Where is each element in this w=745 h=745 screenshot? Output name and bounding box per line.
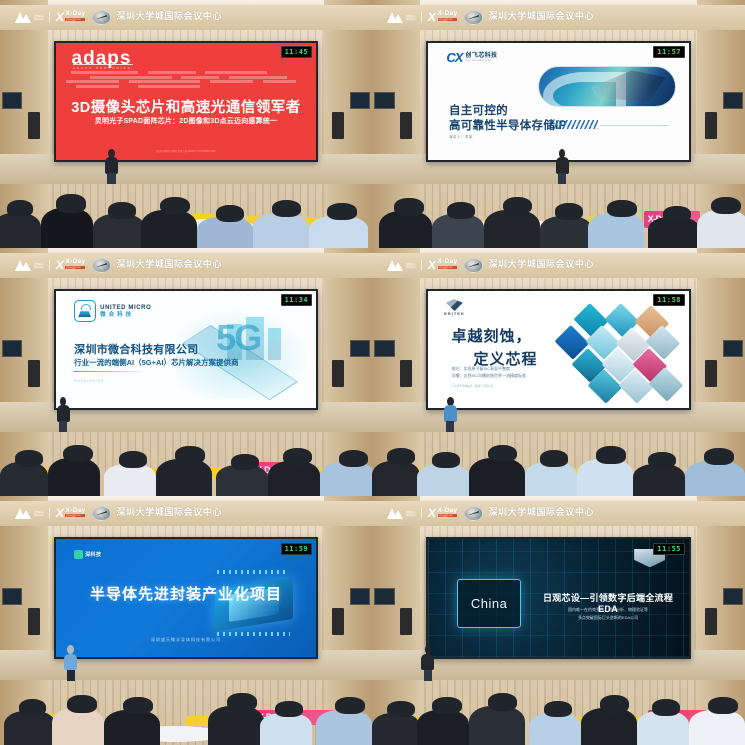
wall-monitor-left	[374, 340, 395, 357]
slide-eda: China 日观芯设—引领数字后端全流程EDA 国内唯一在约束签核、时序分析、物…	[428, 539, 689, 657]
united-micro-badge-icon	[74, 300, 96, 322]
event-banner: 深圳南山Nanshan X X-Day Roadshow 2025 深圳 深圳大…	[0, 501, 372, 526]
wall-monitor-right	[350, 92, 371, 109]
united-micro-logo: UNITED MICRO 微合科技	[74, 300, 151, 322]
photo-panel-2[interactable]: 深圳南山Nanshan X X-Day Roadshow 2025 深圳 深圳大…	[372, 0, 745, 248]
wall-monitor-left	[374, 588, 395, 605]
mountain-logo-icon	[387, 507, 403, 519]
chip-graphic-china: China	[457, 579, 522, 628]
clock-display-1: 11:45	[281, 46, 313, 58]
x-mark-icon: X	[427, 259, 436, 271]
um-name-cn: 微合科技	[100, 312, 151, 318]
clock-display-4: 11:58	[653, 294, 685, 306]
presentation-screen-3: UNITED MICRO 微合科技 5G 深圳市微合科技有限公司 行业一流的端侧…	[54, 289, 318, 411]
speaker-right	[332, 608, 344, 635]
conference-center-seal-icon	[464, 506, 483, 521]
x-mark-icon: X	[55, 11, 64, 23]
speaker-right	[705, 112, 717, 139]
center-name-en: INTERNATIONAL CONFERENCE CENTER OF UNIVE…	[488, 21, 594, 23]
gritek-wordmark: GRITEK	[444, 311, 465, 316]
photo-panel-5[interactable]: 深圳南山Nanshan X X-Day Roadshow 2025 深圳 深圳大…	[0, 496, 372, 745]
audience-area-3: X-Day	[0, 419, 372, 496]
subtitle-line-1: 抛光：实现原子级SiC表面平整度	[452, 366, 526, 373]
banner-divider	[421, 12, 422, 23]
speaker-left	[28, 112, 40, 139]
audience-area-2: X-Day	[372, 171, 745, 248]
center-name-cn: 深圳大学城国际会议中心	[116, 12, 222, 21]
conference-center-seal-icon	[464, 258, 483, 273]
clock-display-6: 11:55	[653, 543, 685, 555]
slide-united-micro: UNITED MICRO 微合科技 5G 深圳市微合科技有限公司 行业一流的端侧…	[56, 291, 316, 409]
x-mark-icon: X	[427, 11, 436, 23]
speaker-right	[332, 360, 344, 387]
audience-area-1	[0, 171, 372, 248]
banner-divider	[421, 508, 422, 519]
mountain-logo-label: 深圳南山Nanshan	[34, 511, 44, 517]
mountain-logo-icon	[387, 11, 403, 23]
center-name-en: INTERNATIONAL CONFERENCE CENTER OF UNIVE…	[488, 269, 594, 271]
wall-monitor-left	[2, 92, 23, 109]
presentation-screen-1: adaps ADAPS PHOTONICS 3D摄像头芯片和高速光通信领军者 灵…	[54, 41, 318, 163]
wall-monitor-right	[723, 340, 744, 357]
line-decor	[600, 125, 668, 126]
center-name-en: INTERNATIONAL CONFERENCE CENTER OF UNIVE…	[116, 269, 222, 271]
xday-logo: X X-Day Roadshow 2025 深圳	[56, 259, 85, 271]
center-name-cn: 深圳大学城国际会议中心	[116, 260, 222, 269]
event-banner: 深圳南山Nanshan X X-Day Roadshow 2025 深圳 深圳大…	[372, 5, 745, 30]
mountain-logo-label: 深圳南山Nanshan	[406, 511, 416, 517]
conference-center-seal-icon	[92, 10, 111, 25]
event-banner: 深圳南山Nanshan X X-Day Roadshow 2025 深圳 深圳大…	[372, 501, 745, 526]
mountain-logo-label: 深圳南山Nanshan	[34, 263, 44, 269]
wall-monitor-right	[350, 588, 371, 605]
adaps-rule	[73, 64, 133, 65]
wall-monitor-left	[2, 588, 23, 605]
slide-title-3: 深圳市微合科技有限公司	[74, 341, 198, 357]
slide-photo-mosaic	[548, 305, 686, 399]
mountain-logo-label: 深圳南山 Nanshan	[34, 15, 44, 21]
wall-monitor-right	[723, 588, 744, 605]
slide-title-5: 半导体先进封装产业化项目	[56, 583, 316, 604]
photo-gallery-grid: 深圳南山 Nanshan X X-Day Roadshow 2025 深圳 深圳…	[0, 0, 745, 745]
slide-hero-image	[538, 66, 676, 107]
art-label-5g: 5G	[216, 320, 260, 356]
speaker-left	[28, 360, 40, 387]
speaker-right	[332, 112, 344, 139]
presentation-screen-4: GRITEK 卓越刻蚀	[426, 289, 691, 411]
slide-cfx: CX 创飞芯科技 CFX TECHNOLOGY 自主可控的 高可靠性半导体存储I…	[428, 43, 689, 161]
slide-subtitle-3: 行业一流的端侧AI（5G+AI）芯片解决方案提供商	[74, 357, 238, 368]
slide-title-1: 3D摄像头芯片和高速光通信领军者	[56, 96, 316, 117]
mountain-logo-icon	[387, 259, 403, 271]
gritek-mark-icon	[446, 299, 463, 311]
cfx-name-cn: 创飞芯科技	[465, 53, 497, 59]
slide-title-4: 卓越刻蚀， 定义芯程	[452, 326, 538, 371]
cfx-logo: CX 创飞芯科技 CFX TECHNOLOGY	[446, 51, 497, 64]
shenzhen-tech-logo: 深科技	[74, 550, 101, 559]
wall-monitor-left	[374, 92, 395, 109]
conference-center-seal-icon	[92, 258, 111, 273]
xday-year: 2025 深圳	[65, 21, 85, 23]
wall-monitor-right	[723, 92, 744, 109]
audience-area-5: X-Day	[0, 668, 372, 745]
photo-panel-1[interactable]: 深圳南山 Nanshan X X-Day Roadshow 2025 深圳 深圳…	[0, 0, 372, 248]
conference-center-seal-icon	[92, 506, 111, 521]
banner-divider	[49, 260, 50, 271]
speaker-left	[400, 360, 412, 387]
wall-monitor-right	[350, 340, 371, 357]
um-name-en: UNITED MICRO	[100, 305, 151, 312]
event-banner: 深圳南山Nanshan X X-Day Roadshow 2025 深圳 深圳大…	[0, 253, 372, 278]
photo-panel-4[interactable]: 深圳南山Nanshan X X-Day Roadshow 2025 深圳 深圳大…	[372, 248, 745, 496]
gritek-logo: GRITEK	[444, 299, 465, 316]
center-name-en: INTERNATIONAL CONFERENCE CENTER OF UNIVE…	[116, 21, 222, 23]
slide-rule	[74, 371, 147, 373]
mountain-logo-icon	[15, 11, 31, 23]
mountain-logo-icon	[15, 259, 31, 271]
center-name-cn: 深圳大学城国际会议中心	[488, 260, 594, 269]
xday-logo: X X-Day Roadshow 2025 深圳	[428, 259, 457, 271]
slide-gritek: GRITEK 卓越刻蚀	[428, 291, 689, 409]
xday-logo: X X-Day Roadshow 2025 深圳	[428, 507, 457, 519]
slide-subtitle-4: 抛光：实现原子级SiC表面平整度 沟槽：达到SiC沟槽刻蚀世界一流精度标准	[452, 366, 526, 380]
mountain-logo-icon	[15, 507, 31, 519]
brand-name-5: 深科技	[85, 551, 101, 558]
banner-divider	[49, 508, 50, 519]
title-line-1: 自主可控的	[449, 105, 508, 117]
speaker-right	[705, 360, 717, 387]
slide-subtitle-1: 灵明光子SPAD面阵芯片：2D图像和3D点云迈向感算统一	[56, 116, 316, 126]
subtitle-line-1: 国内唯一在约束签核、时序分析、物理验证等	[535, 606, 681, 613]
audience-area-6: X-Day	[372, 668, 745, 745]
presenter-label-2: 演讲人：李某	[449, 135, 473, 140]
presentation-screen-2: CX 创飞芯科技 CFX TECHNOLOGY 自主可控的 高可靠性半导体存储I…	[426, 41, 691, 163]
photo-panel-6[interactable]: 深圳南山Nanshan X X-Day Roadshow 2025 深圳 深圳大…	[372, 496, 745, 745]
x-mark-icon: X	[427, 507, 436, 519]
cfx-name-en: CFX TECHNOLOGY	[465, 60, 497, 62]
clock-display-3: 11:34	[281, 294, 313, 306]
center-name-cn: 深圳大学城国际会议中心	[488, 508, 594, 517]
speaker-left	[28, 608, 40, 635]
slide-footnote-1: 深圳市灵明光子科技有限公司 ADAPS PHOTONICS INC.	[56, 150, 316, 154]
audience-area-4	[372, 419, 745, 496]
slide-date-3: 2025/08/04	[74, 378, 104, 383]
hero-ring-decor	[543, 72, 625, 107]
xday-logo: X X-Day Roadshow 2025 深圳	[428, 11, 457, 23]
x-mark-icon: X	[55, 507, 64, 519]
speaker-left	[400, 608, 412, 635]
photo-panel-3[interactable]: 深圳南山Nanshan X X-Day Roadshow 2025 深圳 深圳大…	[0, 248, 372, 496]
chip-label: China	[471, 596, 507, 611]
xday-year: 2025 深圳	[438, 21, 458, 23]
banner-divider	[421, 260, 422, 271]
slide-title-2: 自主可控的 高可靠性半导体存储IP	[449, 104, 567, 134]
xday-year: 2025 深圳	[438, 517, 458, 519]
presentation-screen-5: 深科技 半导体先进封装产业化项目 深圳盛天微半导体科技有限公司 11:59	[54, 537, 318, 659]
mountain-logo-label: 深圳南山Nanshan	[406, 15, 416, 21]
xday-year: 2025 深圳	[65, 269, 85, 271]
title-line-2: 高可靠性半导体存储IP	[449, 120, 567, 132]
event-banner: 深圳南山Nanshan X X-Day Roadshow 2025 深圳 深圳大…	[372, 253, 745, 278]
conference-center-seal-icon	[464, 10, 483, 25]
center-name-en: INTERNATIONAL CONFERENCE CENTER OF UNIVE…	[488, 517, 594, 519]
xday-year: 2025 深圳	[438, 269, 458, 271]
brand-square-icon	[74, 550, 83, 559]
subtitle-line-2: 沟槽：达到SiC沟槽刻蚀世界一流精度标准	[452, 373, 526, 380]
slide-corp-5: 深圳盛天微半导体科技有限公司	[56, 637, 316, 643]
mountain-logo-label: 深圳南山Nanshan	[406, 263, 416, 269]
center-name-cn: 深圳大学城国际会议中心	[488, 12, 594, 21]
subtitle-line-2: 多点突破国际巨头垄断的EDA公司	[535, 614, 681, 621]
slide-adaps: adaps ADAPS PHOTONICS 3D摄像头芯片和高速光通信领军者 灵…	[56, 43, 316, 161]
hatch-decor	[553, 120, 597, 128]
xday-logo: X X-Day Roadshow 2025 深圳	[56, 11, 85, 23]
event-banner: 深圳南山 Nanshan X X-Day Roadshow 2025 深圳 深圳…	[0, 5, 372, 30]
slide-packaging: 深科技 半导体先进封装产业化项目 深圳盛天微半导体科技有限公司 11:59	[56, 539, 316, 657]
title-line-1: 卓越刻蚀，	[452, 326, 538, 349]
center-name-en: INTERNATIONAL CONFERENCE CENTER OF UNIVE…	[116, 517, 222, 519]
clock-display-5: 11:59	[281, 543, 313, 555]
cfx-mark-icon: CX	[446, 51, 462, 64]
slide-footnote-4: 广东省半导体技术（深圳）有限公司	[452, 385, 494, 389]
banner-divider	[49, 12, 50, 23]
presentation-screen-6: China 日观芯设—引领数字后端全流程EDA 国内唯一在约束签核、时序分析、物…	[426, 537, 691, 659]
xday-logo: X X-Day Roadshow 2025 深圳	[56, 507, 85, 519]
wall-monitor-left	[2, 340, 23, 357]
slide-subtitle-6: 国内唯一在约束签核、时序分析、物理验证等 多点突破国际巨头垄断的EDA公司	[535, 606, 681, 620]
center-name-cn: 深圳大学城国际会议中心	[116, 508, 222, 517]
xday-year: 2025 深圳	[65, 517, 85, 519]
speaker-right	[705, 608, 717, 635]
clock-display-2: 11:57	[653, 46, 685, 58]
speaker-left	[400, 112, 412, 139]
x-mark-icon: X	[55, 259, 64, 271]
slide-decor-bars	[66, 69, 305, 90]
